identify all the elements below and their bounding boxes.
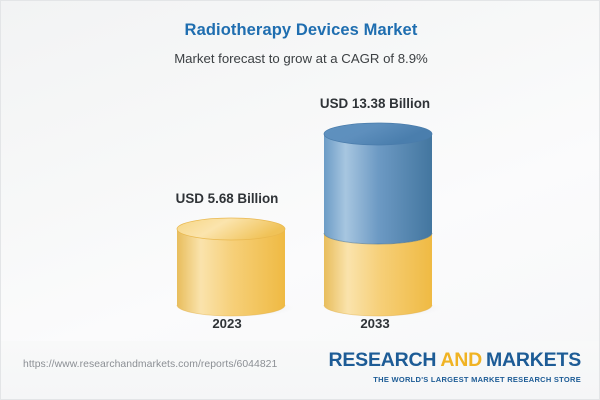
bar-body-2023	[177, 229, 285, 316]
bar-segment-base-2033	[324, 233, 432, 316]
data-label-2023: USD 5.68 Billion	[137, 191, 317, 206]
bar-top-face-2033	[324, 123, 432, 145]
bar-cylinder-2033	[316, 120, 440, 319]
bar-top-face-2023	[177, 218, 285, 240]
bar-chart-plot-area: USD 5.68 Billion 2023	[1, 1, 600, 341]
logo-wordmark: RESEARCHANDMARKETS	[328, 351, 581, 371]
logo-tagline: THE WORLD'S LARGEST MARKET RESEARCH STOR…	[328, 375, 581, 384]
bar-segment-growth-2033	[324, 134, 432, 244]
logo-word-markets: MARKETS	[486, 349, 581, 371]
logo-word-and: AND	[440, 349, 482, 371]
footer: https://www.researchandmarkets.com/repor…	[1, 341, 600, 399]
data-label-2033: USD 13.38 Billion	[285, 96, 465, 111]
report-url[interactable]: https://www.researchandmarkets.com/repor…	[23, 359, 277, 370]
bar-cylinder-2023	[169, 215, 293, 319]
infographic-card: Radiotherapy Devices Market Market forec…	[0, 0, 600, 400]
research-and-markets-logo[interactable]: RESEARCHANDMARKETS THE WORLD'S LARGEST M…	[328, 351, 581, 384]
logo-word-research: RESEARCH	[328, 349, 436, 371]
category-label-2033: 2033	[285, 316, 465, 331]
